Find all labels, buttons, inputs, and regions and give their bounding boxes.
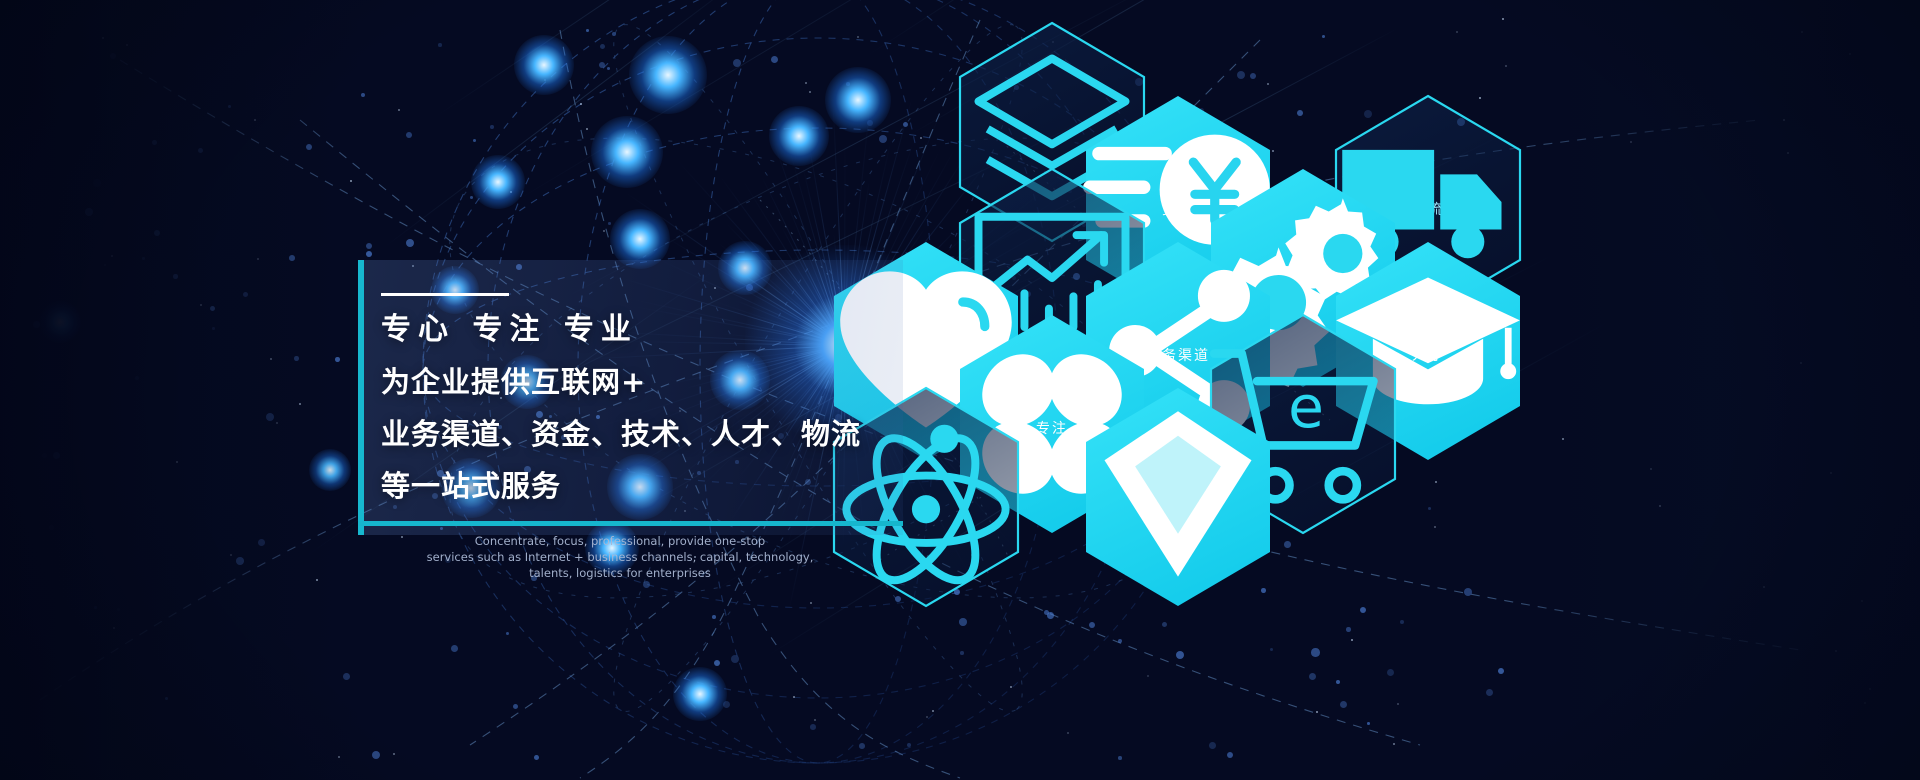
subtitle-line-2: services such as Internet + business cha… xyxy=(340,549,900,565)
panel-left-accent-bar xyxy=(358,260,364,535)
subtitle-line-3: talents, logistics for enterprises xyxy=(340,565,900,581)
hex-pro[interactable]: 专业 xyxy=(1080,384,1276,610)
headline-line-3: 业务渠道、资金、技术、人才、物流 xyxy=(381,408,941,460)
headline-line-1: 专心 专注 专业 xyxy=(381,304,941,356)
svg-text:e: e xyxy=(1288,373,1324,441)
hexagon-cluster: 资金 xyxy=(0,0,1920,780)
subtitle-block: Concentrate, focus, professional, provid… xyxy=(340,533,900,581)
subtitle-line-1: Concentrate, focus, professional, provid… xyxy=(340,533,900,549)
banner-stage: 资金 xyxy=(0,0,1920,780)
headline-line-4: 等一站式服务 xyxy=(381,460,941,512)
headline-line-2: 为企业提供互联网+ xyxy=(381,356,941,408)
title-tick-mark xyxy=(381,293,509,296)
panel-bottom-accent-bar xyxy=(358,521,903,526)
headline-block: 专心 专注 专业 为企业提供互联网+ 业务渠道、资金、技术、人才、物流 等一站式… xyxy=(381,304,941,512)
